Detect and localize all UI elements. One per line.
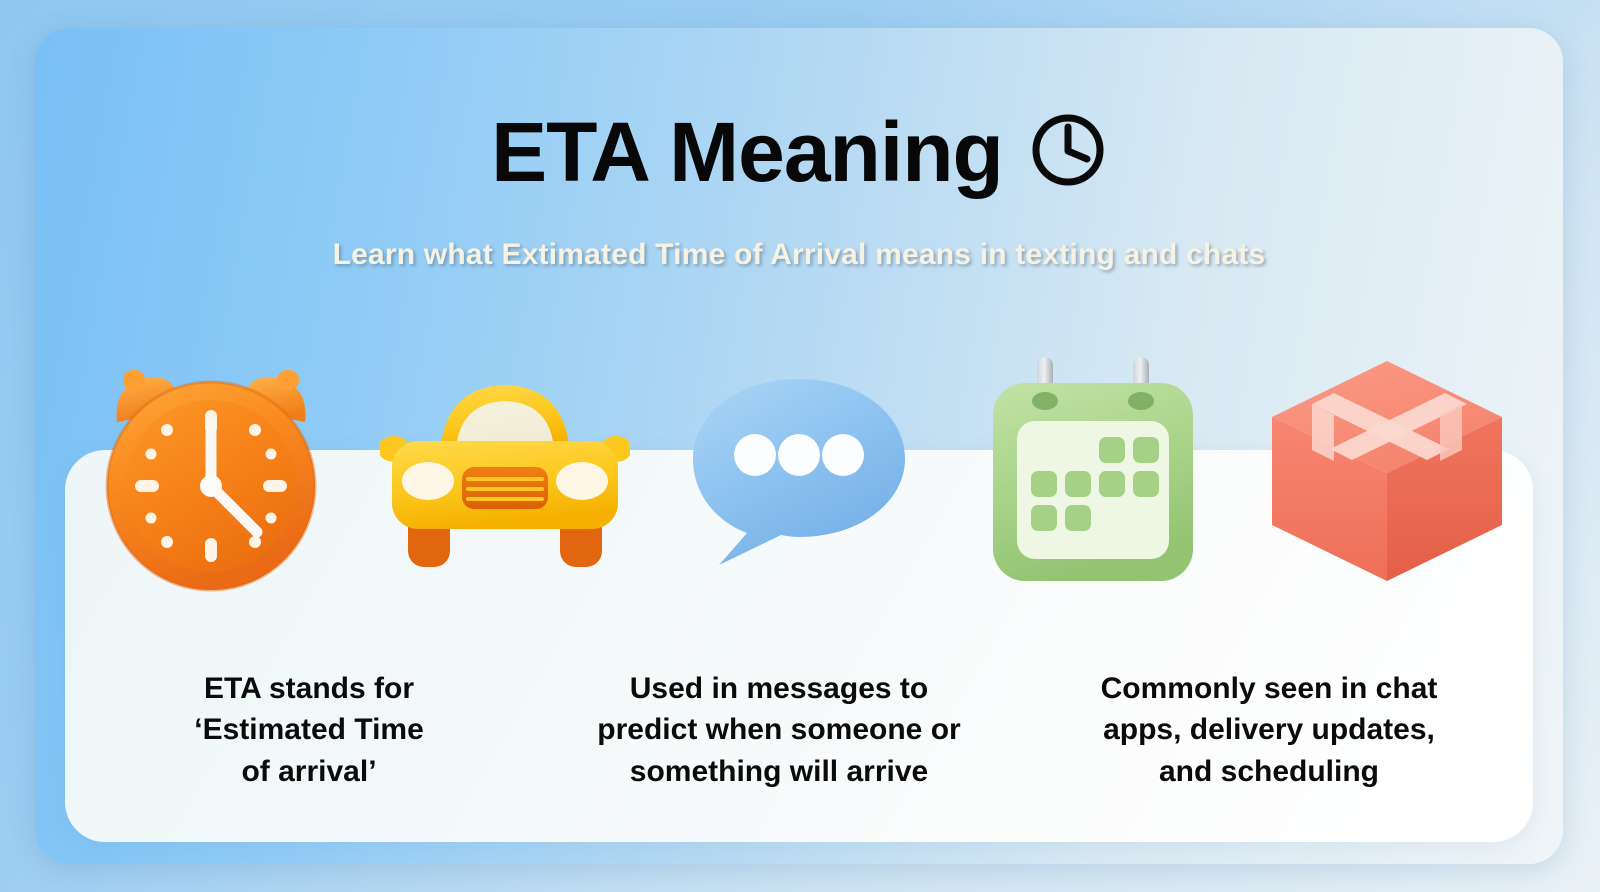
caption-line: ‘Estimated Time <box>111 709 507 750</box>
caption-line: Commonly seen in chat <box>1051 668 1487 709</box>
icon-slot-alarm-clock <box>86 343 336 603</box>
alarm-clock-icon <box>95 346 327 601</box>
caption-line: and scheduling <box>1051 751 1487 792</box>
speech-bubble-icon <box>685 373 913 573</box>
caption-line: predict when someone or <box>551 709 1007 750</box>
package-box-icon <box>1262 355 1512 592</box>
icon-slot-car <box>380 343 630 603</box>
caption-column-2: Used in messages to predict when someone… <box>529 668 1029 792</box>
subtitle: Learn what Extimated Time of Arrival mea… <box>35 238 1563 272</box>
caption-row: ETA stands for ‘Estimated Time of arriva… <box>35 668 1563 792</box>
page-title: ETA Meaning <box>491 110 1003 194</box>
caption-line: apps, delivery updates, <box>1051 709 1487 750</box>
caption-line: Used in messages to <box>551 668 1007 709</box>
icon-slot-speech-bubble <box>674 343 924 603</box>
icon-slot-package-box <box>1262 343 1512 603</box>
caption-column-1: ETA stands for ‘Estimated Time of arriva… <box>89 668 529 792</box>
clock-icon <box>1029 111 1107 194</box>
caption-line: ETA stands for <box>111 668 507 709</box>
icon-row <box>35 343 1563 603</box>
car-icon <box>380 363 630 583</box>
caption-line: something will arrive <box>551 751 1007 792</box>
title-row: ETA Meaning <box>35 110 1563 194</box>
icon-slot-calendar <box>968 343 1218 603</box>
caption-column-3: Commonly seen in chat apps, delivery upd… <box>1029 668 1509 792</box>
infographic-card: ETA Meaning Learn what Extimated Time of… <box>35 28 1563 864</box>
caption-line: of arrival’ <box>111 751 507 792</box>
calendar-icon <box>983 353 1203 593</box>
